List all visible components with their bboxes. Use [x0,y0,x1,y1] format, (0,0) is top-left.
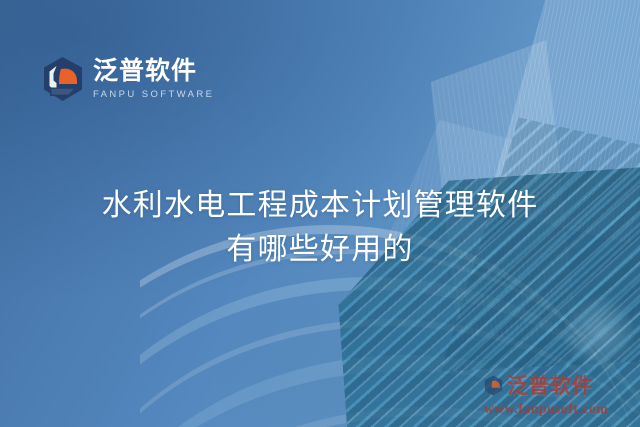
page-title-line-2: 有哪些好用的 [0,228,640,272]
banner-image: 泛普软件 FANPU SOFTWARE 水利水电工程成本计划管理软件 有哪些好用… [0,0,640,427]
page-title: 水利水电工程成本计划管理软件 有哪些好用的 [0,184,640,272]
watermark-url: www.fanpusoft.com [484,401,634,417]
watermark-logo-icon [484,375,503,396]
brand-wordmark: 泛普软件 FANPU SOFTWARE [93,59,214,100]
page-title-line-1: 水利水电工程成本计划管理软件 [0,184,640,228]
brand-name-cn: 泛普软件 [93,59,214,84]
watermark-row: 泛普软件 [484,370,634,400]
louvre-highlight [564,287,634,377]
fanpu-logo-icon [42,56,84,102]
watermark-name-cn: 泛普软件 [507,370,593,400]
brand-logo: 泛普软件 FANPU SOFTWARE [42,56,214,102]
brand-name-en: FANPU SOFTWARE [93,90,214,100]
watermark: 泛普软件 www.fanpusoft.com [484,370,634,417]
